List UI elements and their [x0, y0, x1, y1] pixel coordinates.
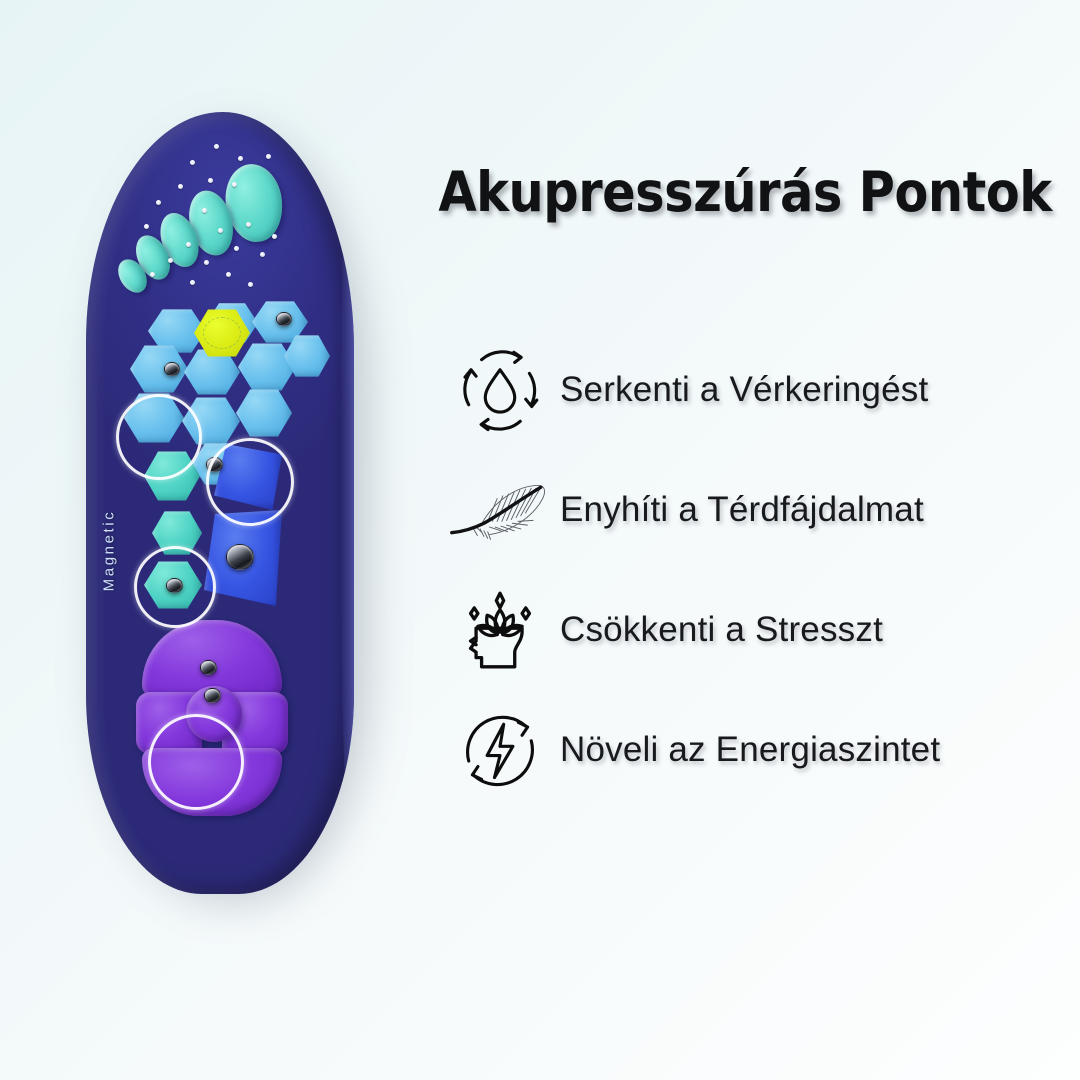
feather-icon — [440, 460, 560, 560]
texture-dot — [214, 144, 219, 149]
hex-pad — [238, 342, 296, 392]
magnet-stud — [276, 312, 292, 326]
feature-label: Növeli az Energiaszintet — [560, 730, 940, 770]
texture-dot — [150, 272, 155, 277]
water-drop-circulation-icon — [440, 340, 560, 440]
feature-list: Serkenti a Vérkeringést — [440, 330, 1080, 810]
feature-label: Enyhíti a Térdfájdalmat — [560, 490, 924, 530]
texture-dot — [186, 242, 191, 247]
insole-body: Magnetic — [86, 112, 354, 894]
acupressure-highlight-circle — [134, 546, 216, 628]
feature-label: Serkenti a Vérkeringést — [560, 370, 928, 410]
magnetic-brand-label: Magnetic — [100, 510, 117, 592]
magnet-stud — [226, 544, 254, 570]
texture-dot — [202, 208, 207, 213]
texture-dot — [190, 280, 195, 285]
texture-dot — [272, 234, 277, 239]
feature-label: Csökkenti a Stresszt — [560, 610, 883, 650]
content-panel: Akupresszúrás Pontok Serkenti a Vérkerin… — [420, 0, 1080, 1080]
lightning-bolt-cycle-icon — [440, 700, 560, 800]
hex-pad — [236, 388, 292, 438]
texture-dot — [226, 272, 231, 277]
texture-dot — [168, 258, 173, 263]
texture-dot — [246, 222, 251, 227]
acupressure-highlight-circle — [148, 714, 244, 810]
texture-dot — [144, 224, 149, 229]
texture-dot — [248, 282, 253, 287]
head-lotus-sparkle-icon — [440, 580, 560, 680]
texture-dot — [232, 182, 237, 187]
texture-dot — [178, 184, 183, 189]
magnet-stud — [164, 362, 180, 376]
texture-dot — [156, 200, 161, 205]
product-image-panel: Magnetic — [0, 0, 430, 1080]
feature-item-knee-pain: Enyhíti a Térdfájdalmat — [440, 450, 1080, 570]
hex-embossed-ring — [203, 317, 241, 349]
insole-figure: Magnetic — [78, 112, 388, 912]
magnet-stud — [204, 688, 221, 703]
acupressure-highlight-circle — [206, 438, 294, 526]
feature-item-stress: Csökkenti a Stresszt — [440, 570, 1080, 690]
insole-edge-highlight — [340, 175, 354, 801]
texture-dot — [238, 156, 243, 161]
texture-dot — [204, 260, 209, 265]
feature-item-circulation: Serkenti a Vérkeringést — [440, 330, 1080, 450]
texture-dot — [234, 246, 239, 251]
page-title: Akupresszúrás Pontok — [425, 160, 1065, 224]
texture-dot — [266, 154, 271, 159]
feature-item-energy: Növeli az Energiaszintet — [440, 690, 1080, 810]
texture-dot — [218, 228, 223, 233]
magnet-stud — [200, 660, 217, 675]
texture-dot — [260, 252, 265, 257]
acupressure-highlight-circle — [116, 394, 202, 480]
texture-dot — [190, 160, 195, 165]
texture-dot — [208, 178, 213, 183]
